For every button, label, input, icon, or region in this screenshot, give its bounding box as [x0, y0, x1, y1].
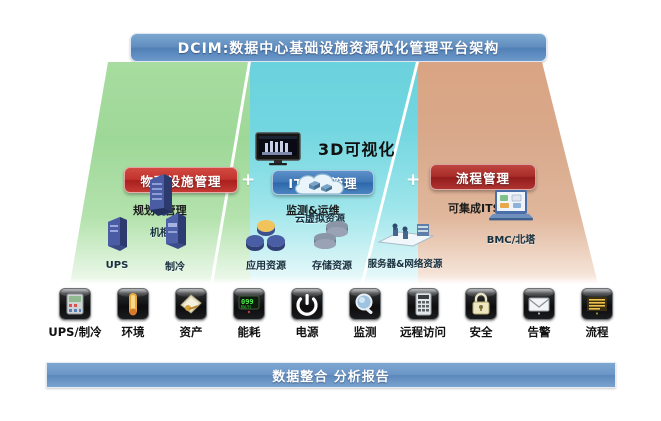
- svg-text:KW/H: KW/H: [241, 305, 251, 310]
- node-server-network: 服务器&网络资源: [358, 214, 452, 270]
- capability-energy[interactable]: 099 KW/H 能耗: [220, 288, 278, 340]
- capability-alarm[interactable]: 告警: [510, 288, 568, 340]
- capability-label: 远程访问: [394, 324, 452, 340]
- node-label: 存储资源: [300, 257, 364, 272]
- ups-cabinet-icon: [92, 214, 142, 258]
- node-label: 服务器&网络资源: [358, 256, 452, 270]
- workflow-list-icon: [581, 288, 613, 320]
- node-label: BMC/北塔: [470, 231, 552, 246]
- database-storage-icon: [300, 217, 364, 255]
- capability-power[interactable]: 电源: [278, 288, 336, 340]
- capability-asset[interactable]: 资产: [162, 288, 220, 340]
- footer-title: 数据整合 分析报告: [272, 366, 390, 385]
- node-label: 制冷: [150, 258, 200, 273]
- asset-tag-icon: [175, 288, 207, 320]
- capability-environment[interactable]: 环境: [104, 288, 162, 340]
- capability-ups-cooling[interactable]: UPS/制冷: [46, 288, 104, 340]
- node-application: 应用资源: [232, 217, 300, 272]
- capability-icon-strip: UPS/制冷 环境: [0, 288, 661, 348]
- visualization-title: 3D可视化: [318, 136, 395, 160]
- capability-label: 环境: [104, 324, 162, 340]
- plus-separator-1: +: [241, 172, 255, 189]
- server-network-icon: [358, 214, 452, 254]
- node-storage: 存储资源: [300, 217, 364, 272]
- application-icon: [232, 217, 300, 255]
- node-label: 应用资源: [232, 257, 300, 272]
- node-bmc: BMC/北塔: [470, 187, 552, 246]
- monitor-3d-icon: [255, 132, 301, 166]
- pillars-stage: + + 3D可视化 物理设施管理 规划&管理 IT设施管理 监测&运: [0, 62, 661, 287]
- energy-meter-icon: 099 KW/H: [233, 288, 265, 320]
- capability-label: 监测: [336, 324, 394, 340]
- envelope-alert-icon: [523, 288, 555, 320]
- magnifier-icon: [349, 288, 381, 320]
- capability-label: 能耗: [220, 324, 278, 340]
- plus-separator-2: +: [406, 172, 420, 189]
- capability-remote-access[interactable]: 远程访问: [394, 288, 452, 340]
- capability-label: 安全: [452, 324, 510, 340]
- padlock-icon: [465, 288, 497, 320]
- node-ups: UPS: [92, 214, 142, 271]
- node-cooling: 制冷: [150, 210, 200, 273]
- dcim-architecture-diagram: DCIM:数据中心基础设施资源优化管理平台架构 + +: [0, 0, 661, 421]
- footer-banner: 数据整合 分析报告: [46, 362, 616, 388]
- capability-monitoring[interactable]: 监测: [336, 288, 394, 340]
- capability-label: 资产: [162, 324, 220, 340]
- capability-label: 流程: [568, 324, 626, 340]
- capability-label: 电源: [278, 324, 336, 340]
- cooling-unit-icon: [150, 210, 200, 256]
- capability-label: UPS/制冷: [46, 324, 104, 340]
- capability-process[interactable]: 流程: [568, 288, 626, 340]
- ups-cooling-panel-icon: [59, 288, 91, 320]
- node-label: UPS: [92, 260, 142, 271]
- cloud-icon: [282, 170, 358, 208]
- capability-label: 告警: [510, 324, 568, 340]
- thermometer-icon: [117, 288, 149, 320]
- capability-security[interactable]: 安全: [452, 288, 510, 340]
- page-title: DCIM:数据中心基础设施资源优化管理平台架构: [178, 38, 500, 58]
- laptop-icon: [470, 187, 552, 229]
- keypad-remote-icon: [407, 288, 439, 320]
- power-button-icon: [291, 288, 323, 320]
- header-banner: DCIM:数据中心基础设施资源优化管理平台架构: [130, 33, 547, 62]
